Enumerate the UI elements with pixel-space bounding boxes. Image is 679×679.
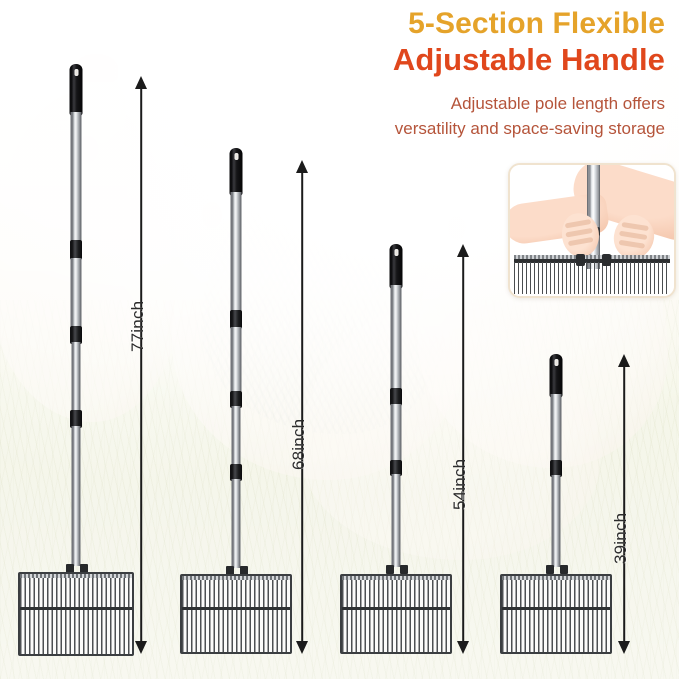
rake-4-pole-lower [552,475,561,567]
arrow-head-down-icon [618,641,630,654]
arrow-head-down-icon [457,641,469,654]
headline-line-1: 5-Section Flexible [145,8,665,40]
dimension-label-54inch: 54inch [450,459,470,510]
rake-4 [500,354,612,656]
rake-1-grip [70,64,83,116]
rake-2-pole-mid2 [232,406,241,466]
rake-4-grip [550,354,563,398]
inset-photo-image [510,165,674,296]
subtitle-line-1: Adjustable pole length offers [135,92,665,117]
dimension-label-77inch: 77inch [128,301,148,352]
dimension-68inch: 68inch [291,160,313,654]
subtitle-line-2: versatility and space-saving storage [135,117,665,142]
subtitle-block: Adjustable pole length offers versatilit… [135,92,665,141]
arrow-head-down-icon [296,641,308,654]
rake-2-head [180,574,292,654]
rake-2-grip [230,148,243,196]
inset-photo-adjusting-pole [508,163,676,298]
rake-1-pole-mid [71,258,82,328]
rake-1-collar-1 [70,240,82,260]
inset-rake-head [514,250,670,294]
rake-1-pole-upper [71,112,82,242]
rake-3-pole-upper [391,285,402,390]
rake-3-pole-mid [391,404,402,462]
rake-3 [340,244,452,656]
dimension-label-68inch: 68inch [289,419,309,470]
headline-line-2: Adjustable Handle [145,44,665,77]
rake-3-bracket-right [400,565,408,574]
dimension-54inch: 54inch [452,244,474,654]
rake-1-pole-lower [72,426,81,566]
rake-2 [180,148,292,656]
hanging-hole-icon [234,153,238,160]
rake-4-bracket-left [546,565,554,574]
dimension-39inch: 39inch [613,354,635,654]
rake-2-pole-lower [232,479,241,568]
rake-3-head [340,574,452,654]
dimension-label-39inch: 39inch [611,513,631,564]
rake-2-pole-mid [231,327,242,393]
headline-block: 5-Section Flexible Adjustable Handle [145,8,665,77]
rake-3-pole-lower [392,474,401,567]
rake-4-bracket-right [560,565,568,574]
rake-1 [18,64,134,656]
rake-1-head [18,572,134,656]
hanging-hole-icon [554,359,558,366]
rake-4-pole-upper [551,394,562,462]
rake-1-pole-mid2 [72,342,81,412]
infographic-canvas: 5-Section Flexible Adjustable Handle Adj… [0,0,679,679]
rake-4-head [500,574,612,654]
arrow-head-down-icon [135,641,147,654]
hanging-hole-icon [394,249,398,256]
rake-2-pole-upper [231,192,242,312]
dimension-77inch: 77inch [130,76,152,654]
rake-3-bracket-left [386,565,394,574]
hanging-hole-icon [74,69,78,76]
rake-3-grip [390,244,403,289]
